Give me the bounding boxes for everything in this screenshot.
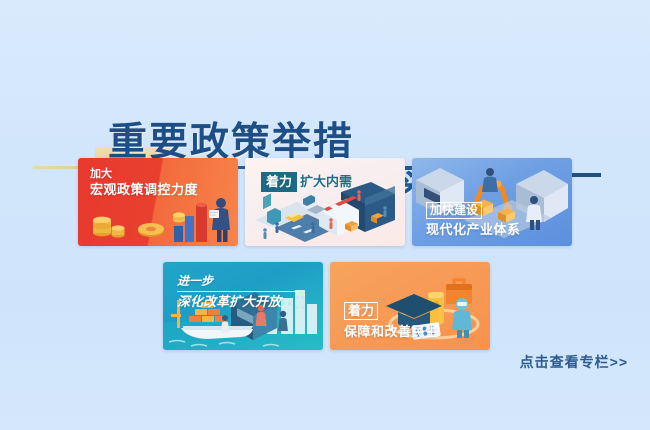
card-macro-policy-text: 加大 宏观政策调控力度 bbox=[90, 168, 198, 198]
view-column-link[interactable]: 点击查看专栏>> bbox=[520, 352, 628, 372]
policy-banner: 重要政策举措 及实施效果 bbox=[0, 0, 650, 430]
card-industrial-system-line2: 现代化产业体系 bbox=[426, 222, 521, 238]
card-reform-opening[interactable]: 进一步 深化改革扩大开放 bbox=[163, 262, 323, 350]
card-reform-opening-divider bbox=[177, 291, 297, 292]
card-macro-policy-line1: 加大 bbox=[90, 168, 198, 182]
card-peoples-livelihood-line2: 保障和改善民生 bbox=[344, 324, 439, 340]
card-domestic-demand-line2: 扩大内需 bbox=[300, 174, 352, 190]
card-peoples-livelihood-text: 着力 保障和改善民生 bbox=[344, 302, 439, 341]
card-macro-policy[interactable]: 加大 宏观政策调控力度 bbox=[78, 158, 238, 246]
card-domestic-demand-text: 着力扩大内需 bbox=[261, 172, 352, 192]
card-industrial-system-line1: 加快建设 bbox=[426, 202, 521, 219]
card-reform-opening-line1: 进一步 bbox=[177, 274, 297, 289]
card-peoples-livelihood-line1: 着力 bbox=[344, 302, 439, 320]
card-reform-opening-text: 进一步 深化改革扩大开放 bbox=[177, 274, 297, 310]
card-industrial-system[interactable]: 加快建设 现代化产业体系 bbox=[412, 158, 572, 246]
card-industrial-system-text: 加快建设 现代化产业体系 bbox=[426, 202, 521, 238]
card-macro-policy-line2: 宏观政策调控力度 bbox=[90, 182, 198, 198]
card-domestic-demand-line1: 着力 bbox=[261, 172, 297, 192]
card-reform-opening-line2: 深化改革扩大开放 bbox=[177, 294, 297, 310]
card-domestic-demand[interactable]: 着力扩大内需 bbox=[245, 158, 405, 246]
banner-title-block: 重要政策举措 及实施效果 bbox=[0, 55, 650, 150]
card-peoples-livelihood[interactable]: 着力 保障和改善民生 bbox=[330, 262, 490, 350]
